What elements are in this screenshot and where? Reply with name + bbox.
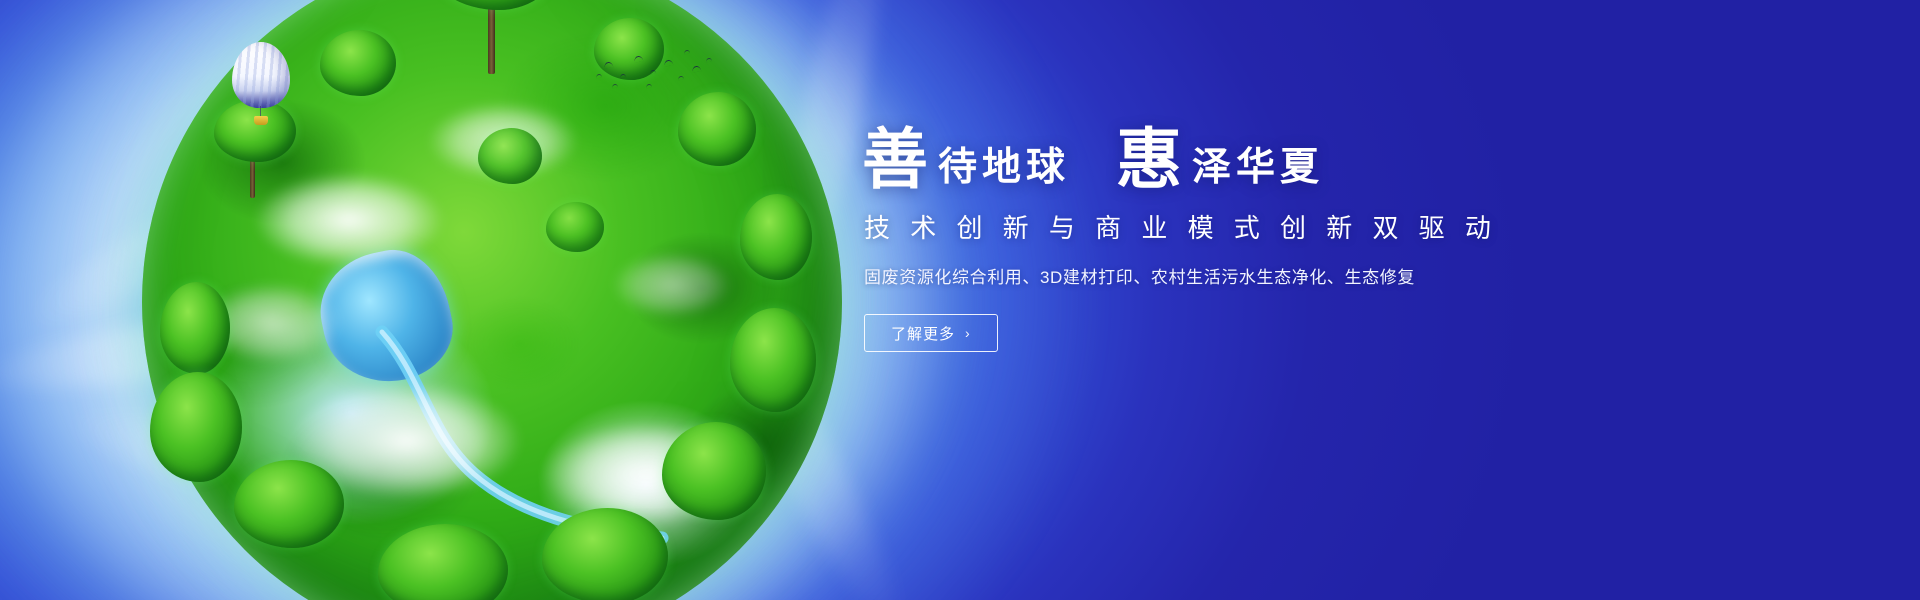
headline-big-char-1: 善 (862, 128, 929, 194)
learn-more-button[interactable]: 了解更多 › (864, 314, 998, 352)
banner-description: 固废资源化综合利用、3D建材打印、农村生活污水生态净化、生态修复 (864, 263, 1622, 288)
headline-small-text-2: 泽华夏 (1192, 148, 1324, 187)
tree-icon (678, 92, 756, 166)
tree-icon (234, 460, 344, 548)
tree-icon (542, 508, 668, 600)
planet-cloud (612, 252, 732, 318)
tree-icon (740, 194, 812, 280)
banner-subtitle: 技 术 创 新 与 商 业 模 式 创 新 双 驱 动 (864, 208, 1622, 245)
tree-icon (662, 422, 766, 520)
hero-banner: 善 待地球 惠 泽华夏 技 术 创 新 与 商 业 模 式 创 新 双 驱 动 … (0, 0, 1920, 600)
tree-trunk (488, 0, 495, 74)
tree-icon (160, 282, 230, 374)
balloon-envelope (232, 42, 290, 108)
learn-more-label: 了解更多 (891, 323, 955, 344)
chevron-right-icon: › (965, 326, 971, 340)
lake-icon (310, 240, 462, 394)
headline-big-char-2: 惠 (1116, 128, 1183, 194)
banner-content: 善 待地球 惠 泽华夏 技 术 创 新 与 商 业 模 式 创 新 双 驱 动 … (862, 128, 1622, 352)
page-title: 善 待地球 惠 泽华夏 (862, 128, 1622, 194)
tree-icon (478, 128, 542, 184)
tree-icon (730, 308, 816, 412)
tree-icon (150, 372, 242, 482)
hot-air-balloon-icon (232, 42, 290, 126)
tree-icon (320, 30, 396, 96)
balloon-basket (254, 116, 268, 125)
headline-small-text-1: 待地球 (938, 148, 1070, 187)
headline-segment-1: 善 待地球 (862, 128, 1070, 194)
headline-segment-2: 惠 泽华夏 (1116, 128, 1324, 194)
planet-cloud (254, 172, 444, 268)
tree-icon (546, 202, 604, 252)
